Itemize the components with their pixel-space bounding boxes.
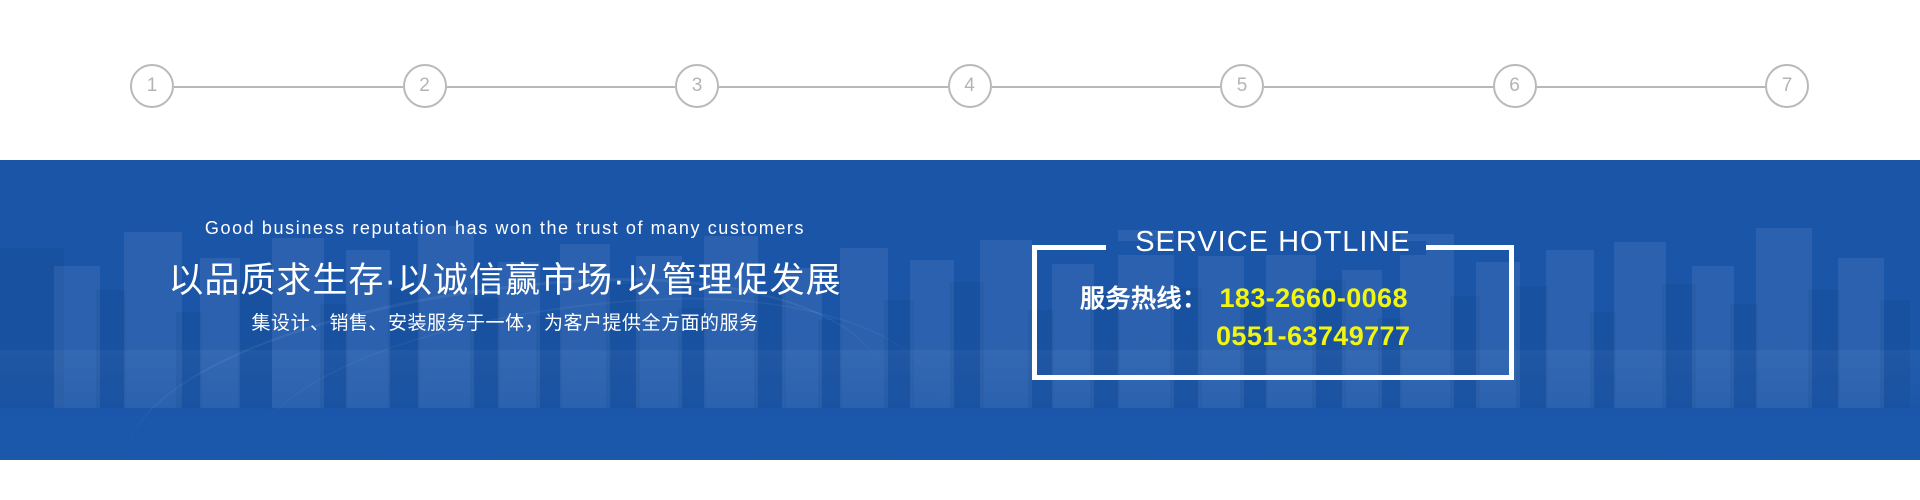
skyline-building (1692, 266, 1734, 408)
skyline-building (1880, 300, 1910, 408)
skyline-building (1730, 304, 1758, 408)
step-connector-3 (719, 86, 948, 88)
step-connector-6 (1537, 86, 1766, 88)
skyline-building (1756, 228, 1812, 408)
hotline-number-primary[interactable]: 183-2660-0068 (1220, 283, 1408, 314)
slogan-chinese-headline: 以品质求生存·以诚信赢市场·以管理促发展 (0, 252, 1010, 303)
step-connector-2 (447, 86, 676, 88)
page-root: 1234567 Good business reputation has won… (0, 0, 1920, 500)
step-progress-strip: 1234567 (0, 0, 1920, 160)
hotline-row-secondary: 0551-63749777 (1032, 321, 1514, 352)
step-node-5[interactable]: 5 (1220, 64, 1264, 108)
step-node-4[interactable]: 4 (948, 64, 992, 108)
slogan-chinese-subtitle: 集设计、销售、安装服务于一体，为客户提供全方面的服务 (0, 308, 1010, 335)
step-node-2[interactable]: 2 (403, 64, 447, 108)
slogan-english: Good business reputation has won the tru… (0, 218, 1010, 239)
skyline-building (1808, 290, 1840, 408)
step-node-3[interactable]: 3 (675, 64, 719, 108)
hotline-number-secondary[interactable]: 0551-63749777 (1216, 321, 1410, 352)
step-connector-5 (1264, 86, 1493, 88)
hotline-row-primary: 服务热线： 183-2660-0068 (1032, 279, 1514, 315)
skyline-building (1614, 242, 1666, 408)
skyline-building (1546, 250, 1594, 408)
hotline-number-list: 服务热线： 183-2660-0068 0551-63749777 (1032, 279, 1514, 352)
step-node-7[interactable]: 7 (1765, 64, 1809, 108)
step-node-1[interactable]: 1 (130, 64, 174, 108)
hotline-title: SERVICE HOTLINE (1032, 226, 1514, 259)
skyline-building (1838, 258, 1884, 408)
promo-banner: Good business reputation has won the tru… (0, 160, 1920, 460)
step-connector-1 (174, 86, 403, 88)
step-connector-4 (992, 86, 1221, 88)
skyline-building (1590, 312, 1616, 408)
slogan-block: Good business reputation has won the tru… (0, 160, 1010, 460)
service-hotline-box: SERVICE HOTLINE 服务热线： 183-2660-0068 0551… (1032, 245, 1514, 380)
skyline-building (1662, 284, 1696, 408)
skyline-building (1516, 286, 1548, 408)
step-node-6[interactable]: 6 (1493, 64, 1537, 108)
step-rail: 1234567 (0, 0, 1920, 160)
hotline-label: 服务热线： (1080, 279, 1208, 315)
